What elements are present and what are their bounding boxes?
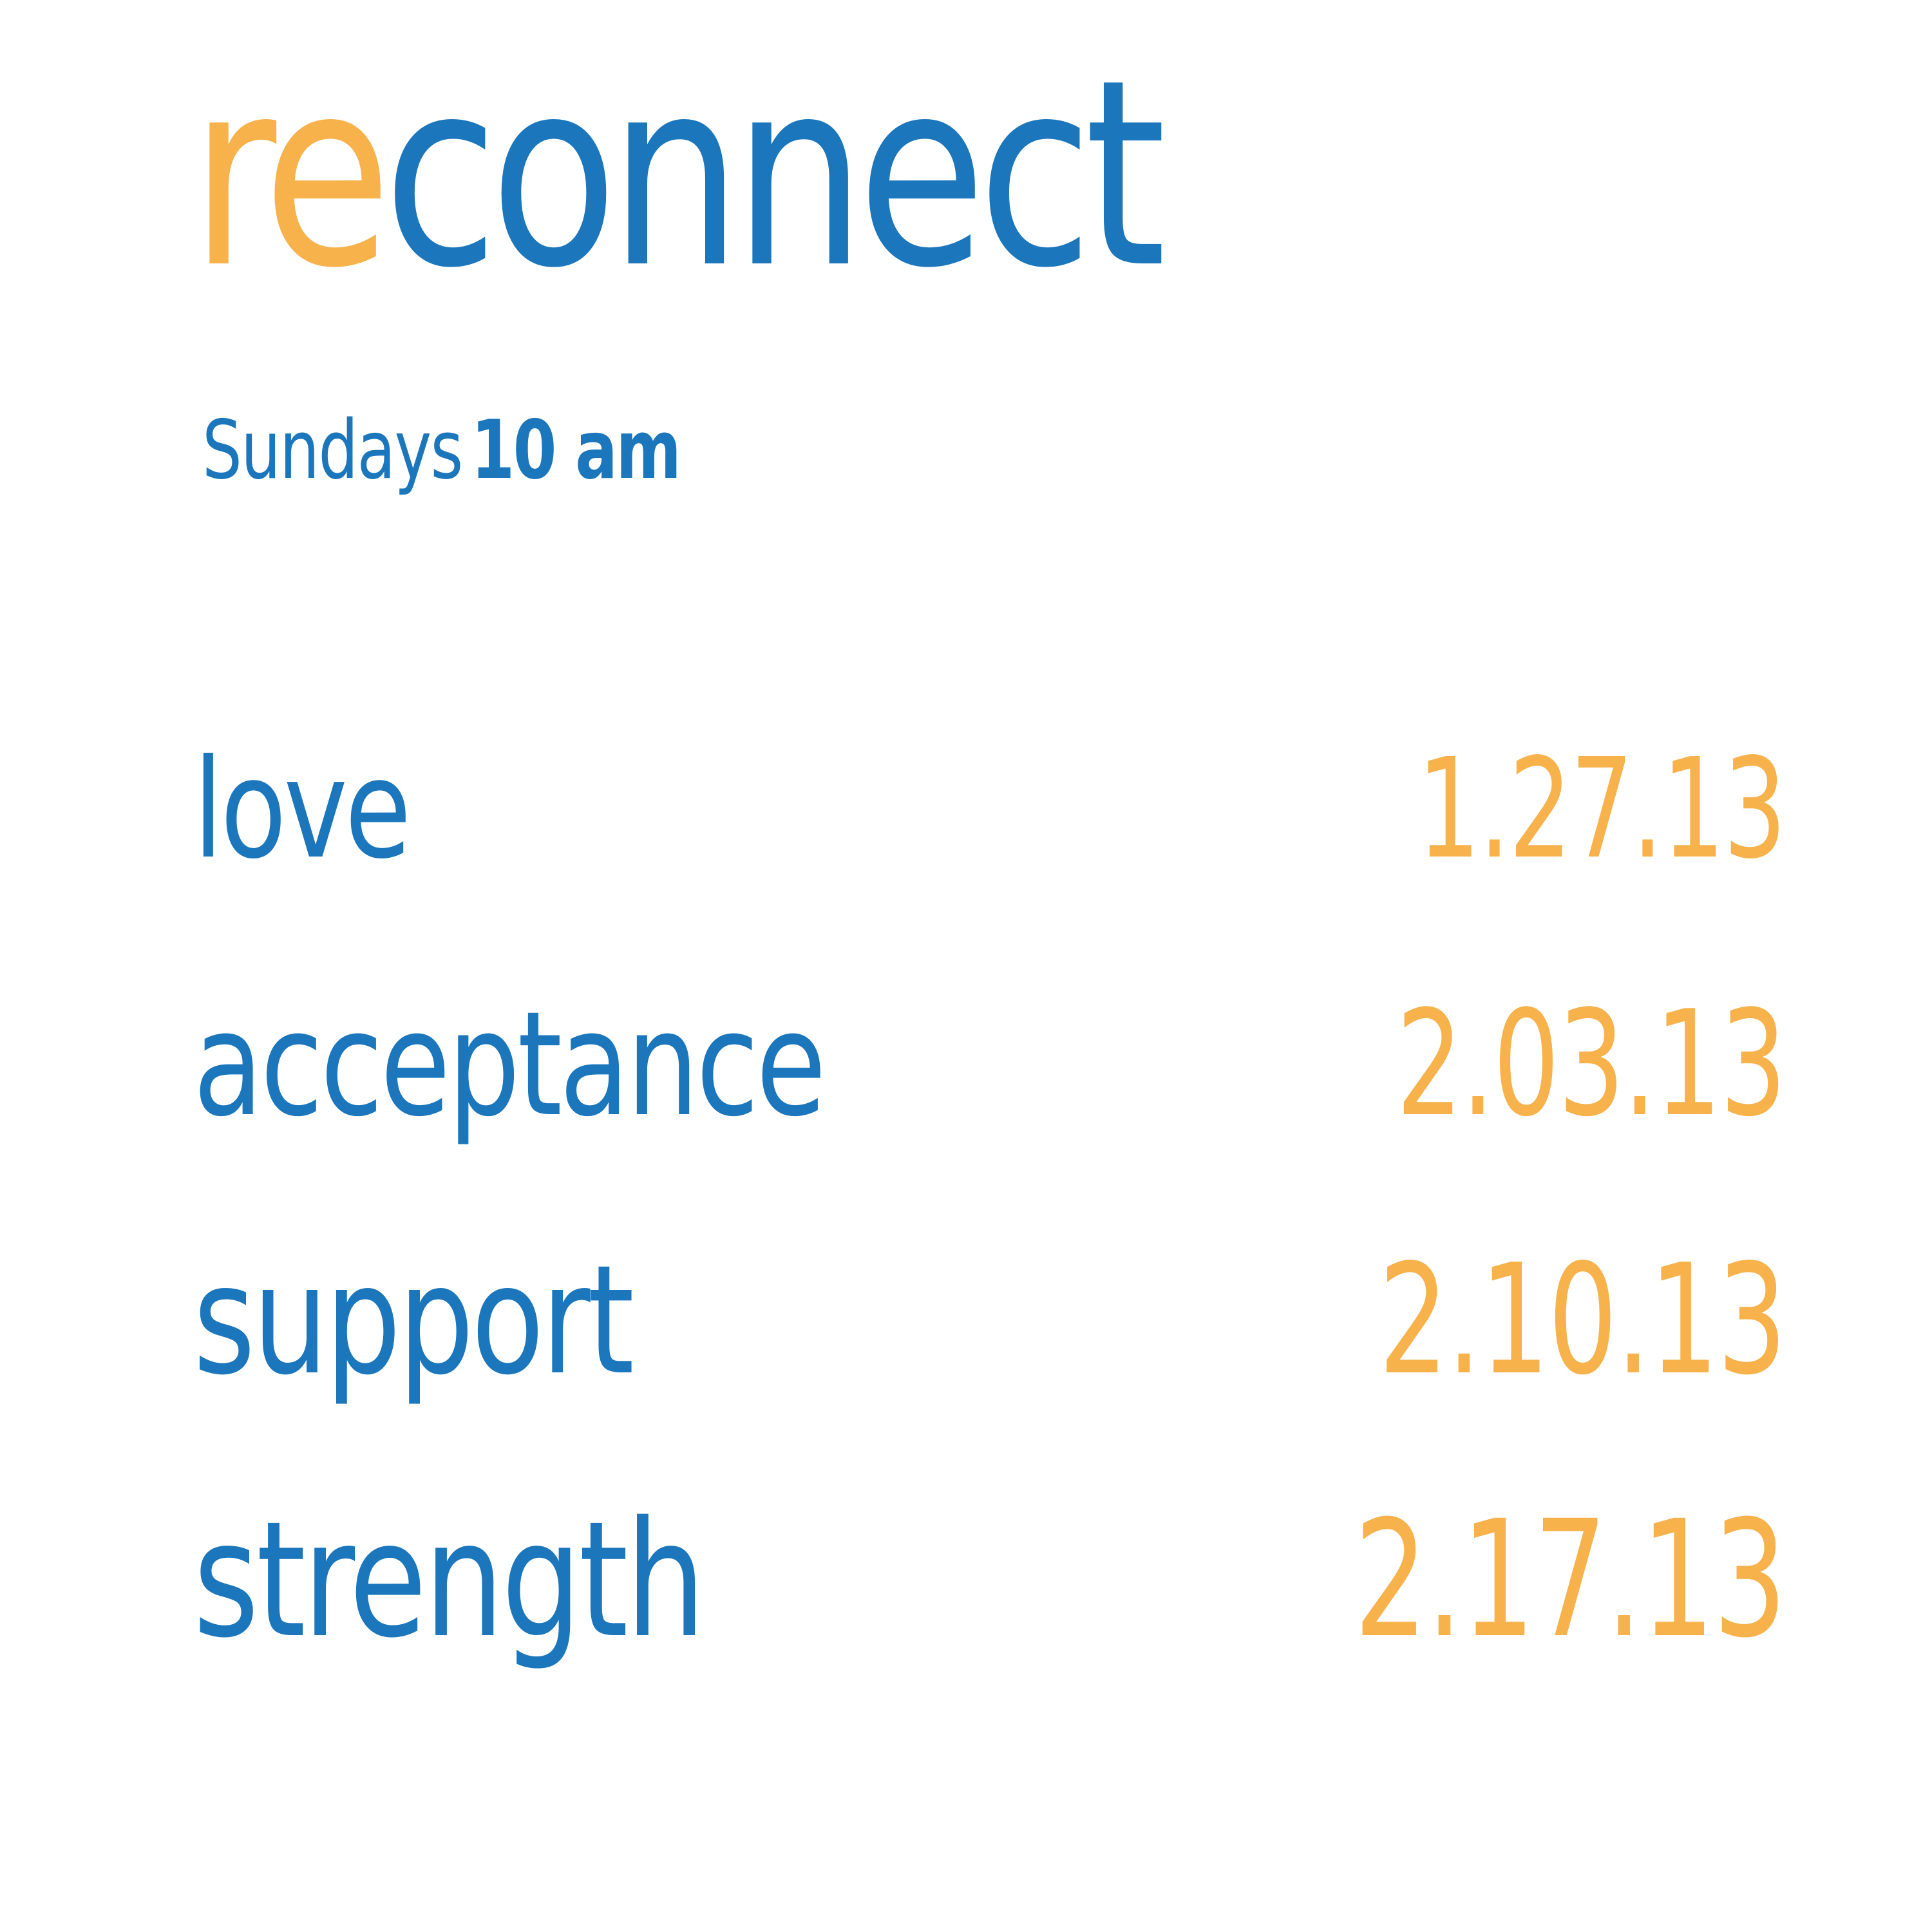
poster-canvas: reconnect Sundays10 am love 1.27.13 acce… — [0, 0, 1932, 1932]
schedule-row: support 2.10.13 — [193, 1244, 1785, 1499]
schedule-row: acceptance 2.03.13 — [193, 992, 1785, 1244]
page-title: reconnect — [191, 46, 1265, 304]
schedule-list: love 1.27.13 acceptance 2.03.13 support … — [193, 741, 1785, 1754]
schedule-date-label: 2.17.13 — [1354, 1499, 1785, 1660]
schedule-theme-label: strength — [193, 1501, 703, 1660]
schedule-theme-label: support — [193, 1245, 631, 1396]
schedule-row: love 1.27.13 — [193, 741, 1785, 992]
brand-wordmark: reconnect — [191, 46, 1158, 304]
subtitle-day-label: Sundays — [202, 402, 462, 497]
schedule-theme-label: love — [193, 741, 408, 878]
meeting-time-subtitle: Sundays10 am — [202, 410, 679, 491]
schedule-theme-label: acceptance — [193, 992, 824, 1137]
schedule-row: strength 2.17.13 — [193, 1499, 1785, 1754]
schedule-date-label: 2.03.13 — [1396, 992, 1785, 1137]
wordmark-main-text: connect — [383, 25, 1158, 325]
schedule-date-label: 2.10.13 — [1379, 1244, 1785, 1396]
wordmark-accent-text: re — [191, 25, 383, 325]
subtitle-time-label: 10 am — [471, 402, 679, 497]
schedule-date-label: 1.27.13 — [1417, 741, 1785, 878]
